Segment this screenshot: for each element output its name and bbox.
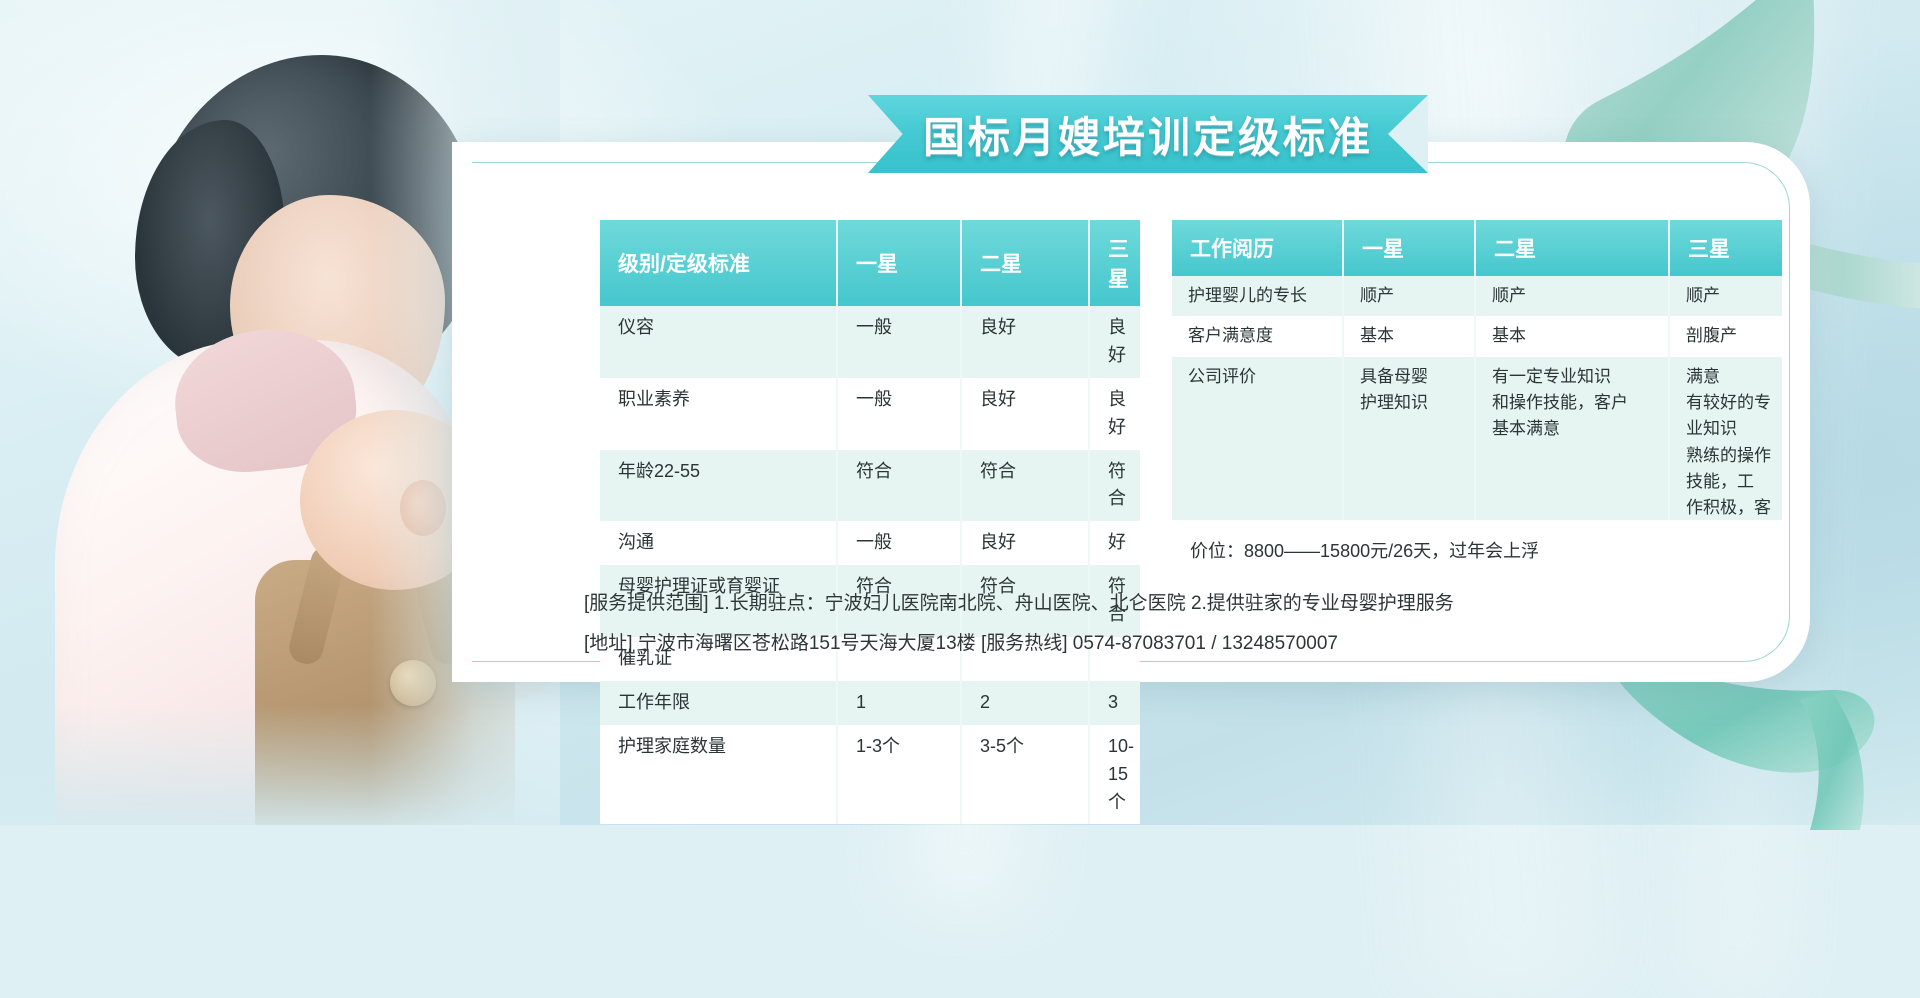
cell-line: 基本: [1492, 323, 1668, 349]
cell-line: 有较好的专业知识: [1686, 390, 1782, 443]
cell-label: 仪容: [600, 306, 837, 378]
service-scope-line: [服务提供范围] 1.长期驻点：宁波妇儿医院南北院、舟山医院、北仑医院 2.提供…: [584, 588, 1684, 615]
column-header-three-star: 三星: [1669, 220, 1782, 276]
cell-line: 顺产: [1360, 283, 1474, 309]
cell-two: 良好: [961, 378, 1089, 450]
cell-two: 3-5个: [961, 725, 1089, 825]
banner-right-notch: [1388, 95, 1428, 173]
cell-line: 和操作技能，客户: [1492, 390, 1668, 416]
cell-label: 职业素养: [600, 378, 837, 450]
column-header-experience: 工作阅历: [1172, 220, 1343, 276]
table-row: 沟通一般良好好: [600, 521, 1140, 565]
table-row: 客户满意度基本基本剖腹产: [1172, 316, 1782, 356]
table-header-row: 工作阅历 一星 二星 三星: [1172, 220, 1782, 276]
table-header-row: 级别/定级标准 一星 二星 三星: [600, 220, 1140, 306]
cell-line: 基本: [1360, 323, 1474, 349]
cell-label: 年龄22-55: [600, 450, 837, 522]
table-row: 护理家庭数量1-3个3-5个10-15个: [600, 725, 1140, 825]
cell-three: 剖腹产: [1669, 316, 1782, 356]
page-title: 国标月嫂培训定级标准: [923, 104, 1373, 165]
cell-label: 护理家庭数量: [600, 725, 837, 825]
cell-label: 客户满意度: [1172, 316, 1343, 356]
cell-line: 顺产: [1492, 283, 1668, 309]
grading-standard-table: 级别/定级标准 一星 二星 三星 仪容一般良好良好职业素养一般良好良好年龄22-…: [600, 220, 1140, 824]
cell-one: 一般: [837, 521, 961, 565]
footer-info: [服务提供范围] 1.长期驻点：宁波妇儿医院南北院、舟山医院、北仑医院 2.提供…: [584, 588, 1684, 668]
table-row: 护理婴儿的专长顺产顺产顺产: [1172, 276, 1782, 316]
cell-three: 顺产: [1669, 276, 1782, 316]
cell-line: 有一定专业知识: [1492, 364, 1668, 390]
cell-two: 2: [961, 681, 1089, 725]
cell-line: 具备母婴: [1360, 364, 1474, 390]
cell-one: 1: [837, 681, 961, 725]
cell-label: 沟通: [600, 521, 837, 565]
cell-one: 一般: [837, 378, 961, 450]
address-hotline-line: [地址] 宁波市海曙区苍松路151号天海大厦13楼 [服务热线] 0574-87…: [584, 628, 1684, 655]
cell-one: 一般: [837, 306, 961, 378]
work-experience-table: 工作阅历 一星 二星 三星 护理婴儿的专长顺产顺产顺产客户满意度基本基本剖腹产公…: [1172, 220, 1782, 555]
cell-three: 3: [1089, 681, 1140, 725]
column-header-three-star: 三星: [1089, 220, 1140, 306]
cell-one: 1-3个: [837, 725, 961, 825]
title-banner: 国标月嫂培训定级标准: [868, 95, 1428, 173]
table-row: 仪容一般良好良好: [600, 306, 1140, 378]
column-header-criteria: 级别/定级标准: [600, 220, 837, 306]
table-row: 职业素养一般良好良好: [600, 378, 1140, 450]
cell-label: 护理婴儿的专长: [1172, 276, 1343, 316]
column-header-two-star: 二星: [961, 220, 1089, 306]
column-header-one-star: 一星: [1343, 220, 1475, 276]
price-note-box: 价位：8800——15800元/26天，过年会上浮: [1172, 520, 1782, 580]
cell-two: 良好: [961, 306, 1089, 378]
cell-two: 符合: [961, 450, 1089, 522]
cell-three: 良好: [1089, 378, 1140, 450]
cell-line: 护理知识: [1360, 390, 1474, 416]
cell-label: 工作年限: [600, 681, 837, 725]
table-row: 工作年限123: [600, 681, 1140, 725]
cell-line: 满意: [1686, 364, 1782, 390]
cell-three: 良好: [1089, 306, 1140, 378]
cell-two: 顺产: [1475, 276, 1669, 316]
cell-one: 基本: [1343, 316, 1475, 356]
cell-two: 良好: [961, 521, 1089, 565]
cell-three: 10-15个: [1089, 725, 1140, 825]
table-row: 年龄22-55符合符合符合: [600, 450, 1140, 522]
cell-one: 符合: [837, 450, 961, 522]
cell-line: 基本满意: [1492, 416, 1668, 442]
price-note-text: 价位：8800——15800元/26天，过年会上浮: [1172, 537, 1539, 563]
cell-three: 好: [1089, 521, 1140, 565]
cell-line: 剖腹产: [1686, 323, 1782, 349]
column-header-two-star: 二星: [1475, 220, 1669, 276]
column-header-one-star: 一星: [837, 220, 961, 306]
cell-two: 基本: [1475, 316, 1669, 356]
cell-line: 熟练的操作技能，工: [1686, 443, 1782, 496]
cell-three: 符合: [1089, 450, 1140, 522]
cell-line: 顺产: [1686, 283, 1782, 309]
cell-one: 顺产: [1343, 276, 1475, 316]
